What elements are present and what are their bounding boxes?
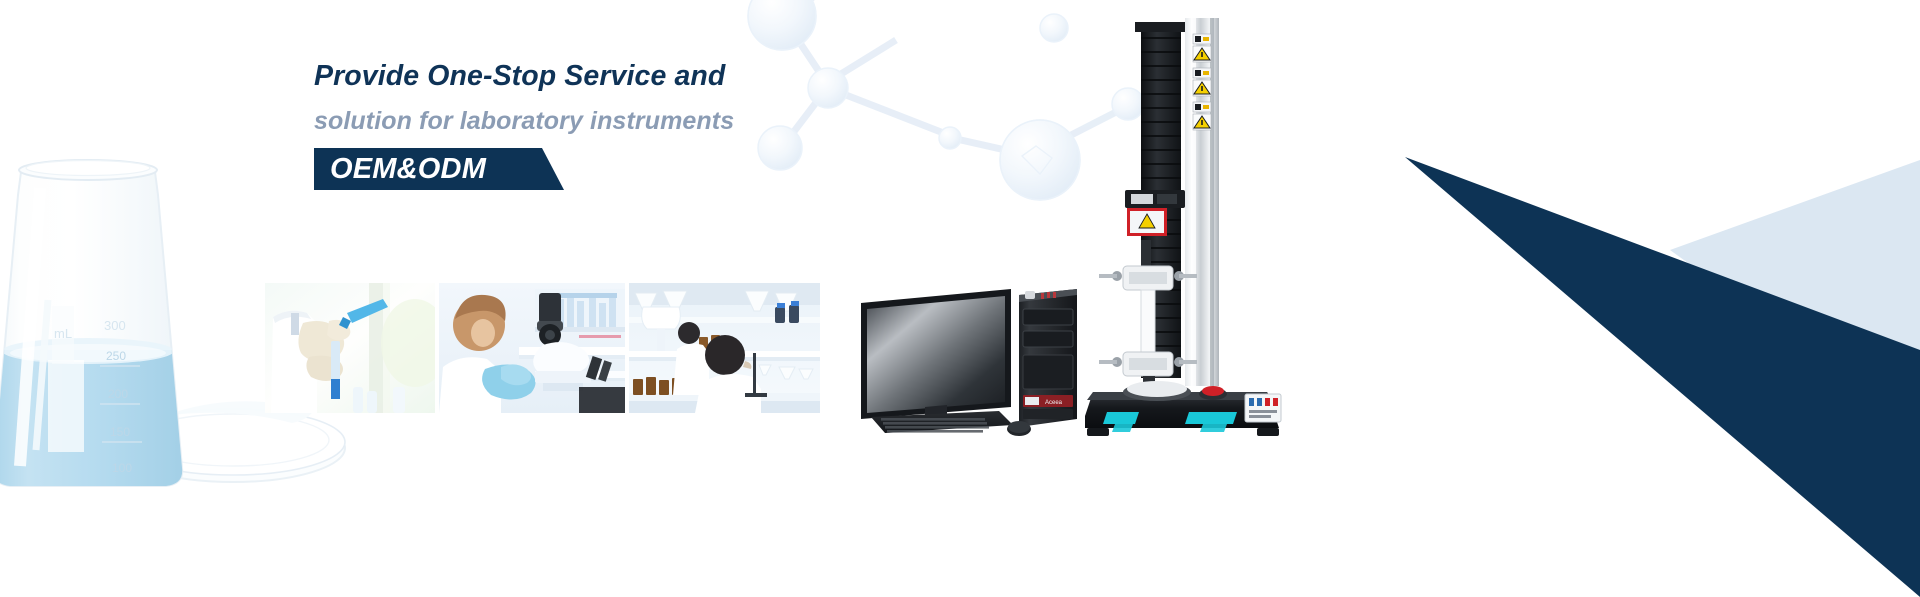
universal-tensile-testing-machine [1085,18,1285,448]
warning-label-group [1193,34,1211,130]
svg-text:150: 150 [110,425,130,439]
warning-triangle-icon [1193,46,1211,62]
svg-text:300: 300 [104,318,126,333]
badge-label: OEM&ODM [330,153,486,185]
headline-line-1: Provide One-Stop Service and [314,54,934,98]
navy-arrow-triangle [1405,157,1920,597]
svg-text:Aceea: Aceea [1045,400,1063,406]
svg-text:mL: mL [54,326,72,341]
svg-text:250: 250 [106,349,126,363]
light-blue-triangle [1670,160,1920,430]
hero-banner: 250 200 150 100 mL 300 Provide One-Stop … [0,0,1920,597]
machine-base [1085,381,1281,436]
oem-odm-badge: OEM&ODM [314,148,564,190]
headline-line-2: solution for laboratory instruments [314,98,934,144]
photo-pipetting [265,283,435,413]
desktop-monitor [861,289,1011,429]
warning-triangle-icon [1193,80,1211,96]
corner-triangles [1200,0,1920,597]
svg-text:100: 100 [112,461,132,475]
desktop-mouse [1007,421,1031,436]
headline-block: Provide One-Stop Service and solution fo… [314,54,934,190]
photo-lab-bench [629,283,820,413]
lab-photo-strip [265,283,820,413]
desktop-tower: Aceea [1019,289,1077,427]
svg-text:200: 200 [108,387,128,401]
photo-microscope [439,283,625,413]
warning-triangle-icon [1193,114,1211,130]
upper-grip [1099,266,1197,290]
